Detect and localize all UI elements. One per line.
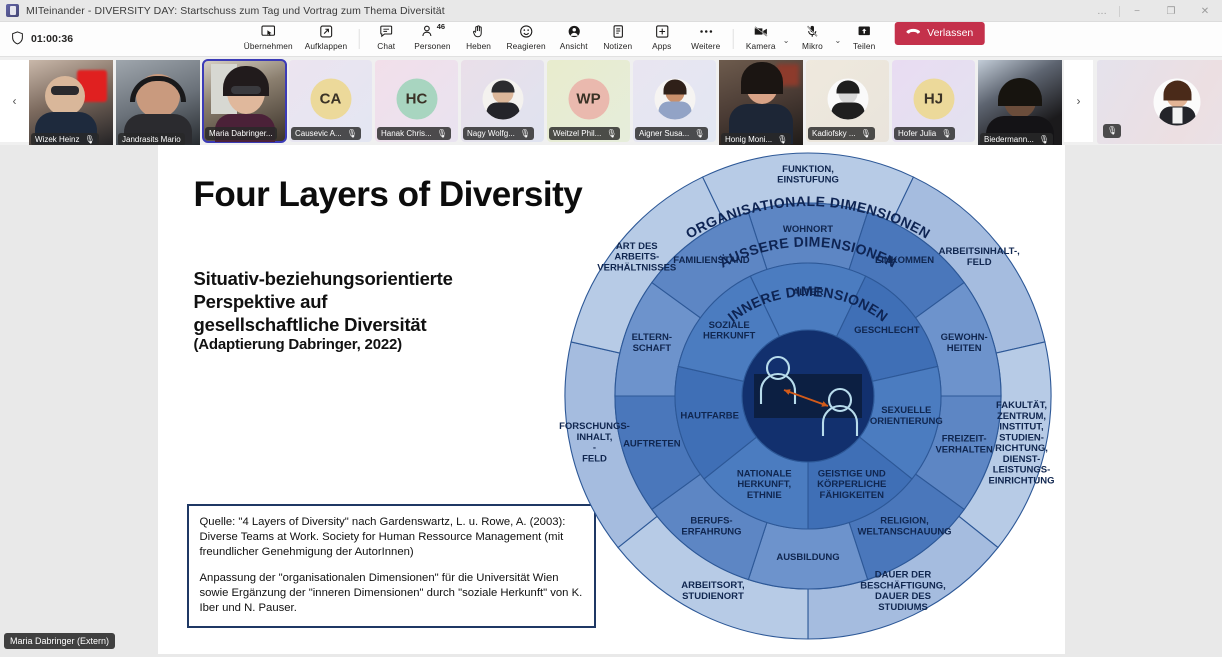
participants-count-badge: 46 bbox=[437, 22, 445, 31]
participant-nameplate: Kadiofsky ... 🎙 bbox=[808, 127, 875, 140]
mic-off-icon: 🎙 bbox=[84, 136, 94, 144]
mic-off-icon: 🎙 bbox=[520, 130, 530, 138]
avatar bbox=[1154, 79, 1201, 126]
participant-name: Hanak Chris... bbox=[381, 129, 432, 138]
svg-text:BERUFS-ERFAHRUNG: BERUFS-ERFAHRUNG bbox=[681, 516, 741, 538]
slide-title: Four Layers of Diversity bbox=[194, 175, 583, 215]
mic-off-icon: 🎙 bbox=[1039, 136, 1049, 144]
mic-off-icon: 🎙 bbox=[347, 130, 357, 138]
window-controls: … − ❐ ✕ bbox=[1085, 0, 1222, 22]
source-paragraph-1: Quelle: "4 Layers of Diversity" nach Gar… bbox=[200, 515, 583, 560]
apps-icon bbox=[654, 24, 669, 39]
shield-icon bbox=[11, 31, 24, 48]
toolbar-button-personen[interactable]: 46 Personen bbox=[408, 22, 456, 51]
toolbar-button-label: Chat bbox=[377, 41, 395, 51]
toolbar-button-uebernehmen[interactable]: Übernehmen bbox=[238, 22, 299, 51]
camera-off-icon bbox=[752, 24, 769, 39]
svg-text:ARBEITSORT,STUDIENORT: ARBEITSORT,STUDIENORT bbox=[681, 580, 744, 602]
source-paragraph-2: Anpassung der "organisationalen Dimensio… bbox=[200, 571, 583, 616]
spotlight-mute-badge: 🎙 bbox=[1103, 124, 1121, 138]
svg-text:FREIZEIT-VERHALTEN: FREIZEIT-VERHALTEN bbox=[935, 434, 992, 456]
svg-text:FUNKTION,EINSTUFUNG: FUNKTION,EINSTUFUNG bbox=[777, 164, 839, 186]
participant-tile[interactable]: HC Hanak Chris... 🎙 bbox=[375, 60, 458, 142]
leave-meeting-button[interactable]: Verlassen bbox=[895, 22, 984, 45]
window-title: MITeinander - DIVERSITY DAY: Startschuss… bbox=[26, 5, 445, 17]
camera-chevron-down-icon[interactable]: ⌄ bbox=[783, 36, 791, 45]
participant-nameplate: Weitzel Phil... 🎙 bbox=[549, 127, 620, 140]
toolbar-button-label: Weitere bbox=[691, 41, 720, 51]
participant-nameplate: Jandrasits Mario bbox=[118, 133, 185, 145]
toolbar-button-kamera[interactable]: Kamera bbox=[739, 22, 783, 51]
mic-off-icon: 🎙 bbox=[437, 130, 447, 138]
toolbar-button-reagieren[interactable]: Reagieren bbox=[501, 22, 552, 51]
svg-text:AUSBILDUNG: AUSBILDUNG bbox=[776, 552, 839, 563]
participant-nameplate: Biedermann... 🎙 bbox=[980, 133, 1053, 145]
toolbar-divider bbox=[733, 29, 734, 49]
avatar: CA bbox=[310, 79, 351, 120]
toolbar-button-label: Übernehmen bbox=[244, 41, 293, 51]
chat-icon bbox=[379, 24, 394, 39]
svg-text:GEISTIGE UNDKÖRPERLICHEFÄHIGKE: GEISTIGE UNDKÖRPERLICHEFÄHIGKEITEN bbox=[817, 468, 886, 500]
window-maximize-button[interactable]: ❐ bbox=[1154, 0, 1188, 22]
toolbar-button-label: Personen bbox=[414, 41, 450, 51]
participant-tile[interactable]: HJ Hofer Julia 🎙 bbox=[892, 60, 975, 142]
slide-subtitle: Situativ-beziehungsorientierte Perspekti… bbox=[194, 267, 524, 355]
participant-tile[interactable]: Nagy Wolfg... 🎙 bbox=[461, 60, 544, 142]
mic-off-icon: 🎙 bbox=[606, 130, 616, 138]
participant-name: Honig Moni... bbox=[725, 135, 772, 144]
toolbar-button-label: Notizen bbox=[603, 41, 632, 51]
teams-logo-icon bbox=[6, 4, 19, 17]
toolbar-button-teilen[interactable]: Teilen bbox=[842, 22, 886, 51]
timer-value: 01:00:36 bbox=[31, 33, 73, 45]
window-minimize-button[interactable]: − bbox=[1120, 0, 1154, 22]
participant-name: Wizek Heinz bbox=[35, 135, 79, 144]
slide-subtitle-line-2: Perspektive auf bbox=[194, 291, 328, 312]
participant-tile[interactable]: WP Weitzel Phil... 🎙 bbox=[547, 60, 630, 142]
svg-text:AUFTRETEN: AUFTRETEN bbox=[623, 439, 681, 450]
shared-content-stage: Four Layers of Diversity Situativ-bezieh… bbox=[0, 145, 1222, 654]
mic-off-icon: 🎙 bbox=[1107, 127, 1117, 135]
svg-text:ELTERN-SCHAFT: ELTERN-SCHAFT bbox=[631, 332, 671, 354]
mic-chevron-down-icon[interactable]: ⌄ bbox=[834, 36, 842, 45]
participant-nameplate: Honig Moni... 🎙 bbox=[721, 133, 791, 145]
toolbar-button-apps[interactable]: Apps bbox=[640, 22, 684, 51]
four-layers-of-diversity-wheel: FUNKTION,EINSTUFUNGARBEITSINHALT-,FELDFA… bbox=[558, 146, 1058, 646]
participant-name: Maria Dabringer... bbox=[209, 129, 273, 138]
toolbar-button-aufklappen[interactable]: Aufklappen bbox=[299, 22, 354, 51]
participant-name: Hofer Julia bbox=[898, 129, 936, 138]
participant-name: Aigner Susa... bbox=[639, 129, 689, 138]
toolbar-button-label: Apps bbox=[652, 41, 671, 51]
toolbar-button-mikro[interactable]: Mikro bbox=[790, 22, 834, 51]
raise-hand-icon bbox=[471, 24, 486, 39]
more-icon bbox=[697, 24, 714, 39]
avatar: HC bbox=[396, 79, 437, 120]
participant-name: Weitzel Phil... bbox=[553, 129, 601, 138]
participant-nameplate: Nagy Wolfg... 🎙 bbox=[463, 127, 534, 140]
slide-subtitle-line-3: gesellschaftliche Diversität bbox=[194, 314, 427, 335]
participant-tile-active[interactable]: Maria Dabringer... bbox=[203, 60, 286, 142]
participant-nameplate: Wizek Heinz 🎙 bbox=[31, 133, 99, 145]
toolbar-buttons: Übernehmen Aufklappen Chat 46 Personen bbox=[238, 22, 985, 57]
filmstrip-prev-button[interactable]: ‹ bbox=[0, 60, 29, 142]
participant-tile[interactable]: Jandrasits Mario bbox=[116, 60, 200, 145]
presentation-slide[interactable]: Four Layers of Diversity Situativ-bezieh… bbox=[158, 145, 1065, 654]
avatar: WP bbox=[568, 79, 609, 120]
take-control-icon bbox=[261, 24, 276, 39]
window-title-bar: MITeinander - DIVERSITY DAY: Startschuss… bbox=[0, 0, 1222, 22]
participant-filmstrip: ‹ Wizek Heinz 🎙 Jandrasits Mario bbox=[0, 57, 1222, 145]
svg-text:FAKULTÄT,ZENTRUM,INSTITUT,STUD: FAKULTÄT,ZENTRUM,INSTITUT,STUDIEN-RICHTU… bbox=[988, 400, 1054, 486]
participant-nameplate: Aigner Susa... 🎙 bbox=[635, 127, 708, 140]
svg-text:GESCHLECHT: GESCHLECHT bbox=[854, 325, 920, 336]
toolbar-button-label: Mikro bbox=[802, 41, 823, 51]
meeting-toolbar: 01:00:36 Übernehmen Aufklappen Chat 4 bbox=[0, 22, 1222, 57]
mic-off-icon: 🎙 bbox=[941, 130, 951, 138]
toolbar-button-weitere[interactable]: Weitere bbox=[684, 22, 728, 51]
active-speaker-badge: Maria Dabringer (Extern) bbox=[4, 633, 115, 649]
toolbar-button-chat[interactable]: Chat bbox=[364, 22, 408, 51]
participant-tile[interactable]: Kadiofsky ... 🎙 bbox=[806, 60, 889, 142]
filmstrip-tiles: Wizek Heinz 🎙 Jandrasits Mario Maria Dab… bbox=[29, 60, 1062, 145]
toolbar-button-label: Ansicht bbox=[560, 41, 588, 51]
participant-tile[interactable]: CA Causevic A... 🎙 bbox=[289, 60, 372, 142]
participant-tile[interactable]: Aigner Susa... 🎙 bbox=[633, 60, 716, 142]
toolbar-button-label: Aufklappen bbox=[305, 41, 348, 51]
avatar bbox=[482, 78, 523, 119]
svg-text:HAUTFARBE: HAUTFARBE bbox=[680, 410, 739, 421]
participant-name: Kadiofsky ... bbox=[812, 129, 856, 138]
spotlight-participant-tile[interactable]: 🎙 bbox=[1097, 60, 1222, 144]
svg-text:WOHNORT: WOHNORT bbox=[782, 224, 832, 235]
filmstrip-next-button[interactable]: › bbox=[1064, 60, 1093, 142]
toolbar-button-label: Kamera bbox=[746, 41, 776, 51]
toolbar-button-label: Reagieren bbox=[507, 41, 546, 51]
participant-nameplate: Hofer Julia 🎙 bbox=[894, 127, 955, 140]
avatar bbox=[654, 78, 695, 119]
view-icon bbox=[566, 24, 581, 39]
slide-source-box: Quelle: "4 Layers of Diversity" nach Gar… bbox=[187, 504, 596, 628]
hangup-icon bbox=[906, 27, 921, 40]
svg-text:GEWOHN-HEITEN: GEWOHN-HEITEN bbox=[940, 332, 987, 354]
toolbar-button-label: Heben bbox=[466, 41, 491, 51]
mic-off-icon: 🎙 bbox=[777, 136, 787, 144]
mic-off-icon: 🎙 bbox=[694, 130, 704, 138]
mic-off-icon: 🎙 bbox=[861, 130, 871, 138]
slide-adaptation-note: (Adaptierung Dabringer, 2022) bbox=[194, 336, 524, 355]
share-screen-icon bbox=[857, 24, 872, 39]
participant-name: Jandrasits Mario bbox=[122, 135, 181, 144]
participant-nameplate: Causevic A... 🎙 bbox=[291, 127, 361, 140]
window-close-button[interactable]: ✕ bbox=[1188, 0, 1222, 22]
meeting-timer: 01:00:36 bbox=[11, 31, 73, 48]
notes-icon bbox=[610, 24, 625, 39]
avatar bbox=[827, 78, 868, 119]
participant-tile[interactable]: Biedermann... 🎙 bbox=[978, 60, 1062, 145]
avatar: HJ bbox=[913, 79, 954, 120]
svg-text:SOZIALEHERKUNFT: SOZIALEHERKUNFT bbox=[703, 320, 755, 342]
reactions-icon bbox=[519, 24, 534, 39]
participant-name: Nagy Wolfg... bbox=[467, 129, 515, 138]
participant-tile[interactable]: Wizek Heinz 🎙 bbox=[29, 60, 113, 145]
participant-nameplate: Maria Dabringer... bbox=[205, 127, 277, 140]
toolbar-button-ansicht[interactable]: Ansicht bbox=[552, 22, 596, 51]
toolbar-divider bbox=[358, 29, 359, 49]
leave-button-label: Verlassen bbox=[927, 27, 973, 39]
toolbar-button-label: Teilen bbox=[853, 41, 875, 51]
toolbar-button-heben[interactable]: Heben bbox=[457, 22, 501, 51]
window-more-button[interactable]: … bbox=[1085, 0, 1119, 22]
participant-name: Biedermann... bbox=[984, 135, 1034, 144]
participant-nameplate: Hanak Chris... 🎙 bbox=[377, 127, 451, 140]
participant-tile[interactable]: Honig Moni... 🎙 bbox=[719, 60, 803, 145]
toolbar-button-notizen[interactable]: Notizen bbox=[596, 22, 640, 51]
people-icon: 46 bbox=[421, 24, 444, 39]
slide-subtitle-line-1: Situativ-beziehungsorientierte bbox=[194, 268, 453, 289]
participant-name: Causevic A... bbox=[295, 129, 342, 138]
popout-icon bbox=[318, 24, 333, 39]
mic-off-icon bbox=[805, 24, 820, 39]
